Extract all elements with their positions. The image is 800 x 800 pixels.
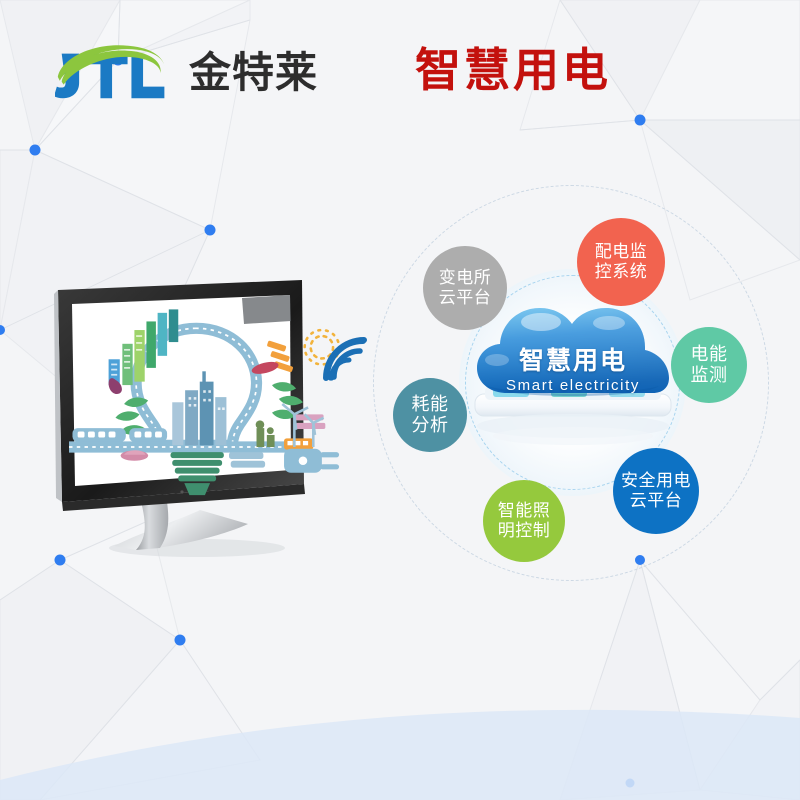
bubble-label-line1: 电能 bbox=[691, 344, 728, 365]
diagram-bubble-substation-cloud-platform[interactable]: 变电所 云平台 bbox=[423, 246, 507, 330]
diagram-bubble-energy-consumption-analysis[interactable]: 耗能 分析 bbox=[393, 378, 467, 452]
diagram-bubble-distribution-monitoring-system[interactable]: 配电监 控系统 bbox=[577, 218, 665, 306]
bubble-label-line2: 明控制 bbox=[498, 521, 551, 541]
bubble-label-line1: 变电所 bbox=[439, 268, 492, 288]
bubble-label-line2: 云平台 bbox=[630, 491, 683, 511]
diagram-bubble-intelligent-lighting-control[interactable]: 智能照 明控制 bbox=[483, 480, 565, 562]
bubble-label-line2: 云平台 bbox=[439, 288, 492, 308]
bubble-label-line2: 监测 bbox=[691, 365, 728, 386]
brand-logo: 金特莱 bbox=[55, 42, 318, 104]
diagram-bubble-safe-electricity-cloud-platform[interactable]: 安全用电 云平台 bbox=[613, 448, 699, 534]
jtl-swoosh-logo bbox=[55, 42, 173, 104]
page-title: 智慧用电 bbox=[415, 47, 611, 93]
bubble-label-line2: 分析 bbox=[412, 415, 449, 436]
bubble-label-line1: 耗能 bbox=[412, 394, 449, 415]
bubble-label-line2: 控系统 bbox=[595, 262, 648, 282]
bubble-label-line1: 智能照 bbox=[498, 501, 551, 521]
bubble-label-line1: 安全用电 bbox=[621, 471, 691, 491]
brand-name-cn: 金特莱 bbox=[189, 52, 318, 94]
smart-electricity-diagram: 智慧用电 Smart electricity 变电所 云平台 配电监 控系统 电… bbox=[355, 180, 785, 590]
desktop-monitor bbox=[52, 278, 362, 568]
poster-header: 金特莱 智慧用电 bbox=[0, 0, 800, 140]
poster-canvas: 金特莱 智慧用电 bbox=[0, 0, 800, 800]
bubble-label-line1: 配电监 bbox=[595, 242, 648, 262]
center-cloud-node: 智慧用电 Smart electricity bbox=[463, 290, 683, 475]
diagram-bubble-power-monitoring[interactable]: 电能 监测 bbox=[671, 327, 747, 403]
